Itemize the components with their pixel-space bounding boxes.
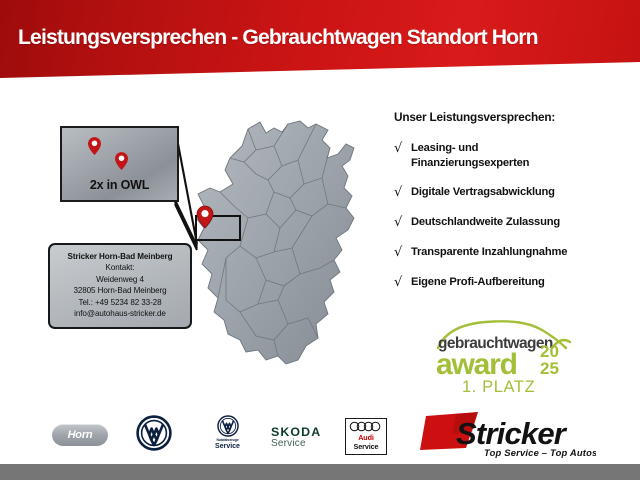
promise-item-text: Eigene Profi-Aufbereitung [411,275,545,290]
skoda-service-label: Service [271,438,321,449]
address-card: Stricker Horn-Bad Meinberg Kontakt: Weid… [48,243,192,329]
vw-nutzfahrzeuge-icon [217,415,239,437]
stricker-name: Stricker [456,416,568,451]
address-name: Stricker Horn-Bad Meinberg [54,251,186,262]
skoda-logo: SKODA Service [271,425,321,449]
bottom-bar [0,464,640,480]
promise-item: √ Transparente Inzahlungnahme [394,245,634,261]
stricker-tagline: Top Service – Top Autos [484,447,596,458]
vw-nutzfahrzeuge-service-label: Service [200,443,255,450]
horn-badge-label: Horn [52,424,108,446]
promise-list: Unser Leistungsversprechen: √ Leasing- u… [394,110,634,306]
address-contact-label: Kontakt: [54,262,186,273]
promise-item: √ Leasing- und Finanzierungsexperten [394,141,634,171]
check-icon: √ [394,141,411,157]
audi-name: Audi [346,433,386,442]
check-icon: √ [394,245,411,261]
stricker-logo: Stricker Top Service – Top Autos [420,404,596,462]
address-email: info@autohaus-stricker.de [54,308,186,319]
vw-roundel-icon [136,415,172,451]
award-year-bottom: 25 [540,359,559,378]
award-badge-svg: gebrauchtwagen award 20 25 1. PLATZ [424,312,584,396]
promise-item-text: Digitale Vertragsabwicklung [411,185,555,200]
check-icon: √ [394,215,411,231]
vw-nutzfahrzeuge-sublabel: Nutzfahrzeuge [200,438,255,442]
promise-item-text: Transparente Inzahlungnahme [411,245,567,260]
address-street: Weidenweg 4 [54,274,186,285]
audi-logo: Audi Service [345,418,387,455]
vw-logo [136,415,172,456]
promise-item: √ Digitale Vertragsabwicklung [394,185,634,201]
vw-nutzfahrzeuge-logo: Nutzfahrzeuge Service [200,415,255,450]
slide: Leistungsversprechen - Gebrauchtwagen St… [0,0,640,480]
location-pin-icon-1 [88,137,101,155]
check-icon: √ [394,185,411,201]
promise-item-text: Leasing- und Finanzierungsexperten [411,141,529,171]
award-rank: 1. PLATZ [462,378,535,396]
germany-map-svg [170,88,380,398]
address-city: 32805 Horn-Bad Meinberg [54,285,186,296]
audi-rings-icon [349,421,383,432]
stricker-logo-svg: Stricker Top Service – Top Autos [420,404,596,462]
address-phone: Tel.: +49 5234 82 33-28 [54,297,186,308]
award-word-main: award [436,348,517,381]
promise-item-line1: Leasing- und [411,141,529,156]
page-title: Leistungsversprechen - Gebrauchtwagen St… [18,25,619,50]
promise-item-text: Deutschlandweite Zulassung [411,215,560,230]
skoda-name: SKODA [271,425,321,439]
horn-badge: Horn [52,424,108,446]
promise-title: Unser Leistungsversprechen: [394,110,634,124]
germany-map [170,88,380,398]
promise-item: √ Eigene Profi-Aufbereitung [394,275,634,291]
check-icon: √ [394,275,411,291]
location-pin-icon-2 [115,152,128,170]
callout-label: 2x in OWL [62,178,177,192]
audi-service-label: Service [346,442,386,451]
owl-callout-box: 2x in OWL [60,126,179,202]
promise-item-line2: Finanzierungsexperten [411,156,529,171]
promise-item: √ Deutschlandweite Zulassung [394,215,634,231]
award-badge: gebrauchtwagen award 20 25 1. PLATZ [424,312,584,396]
